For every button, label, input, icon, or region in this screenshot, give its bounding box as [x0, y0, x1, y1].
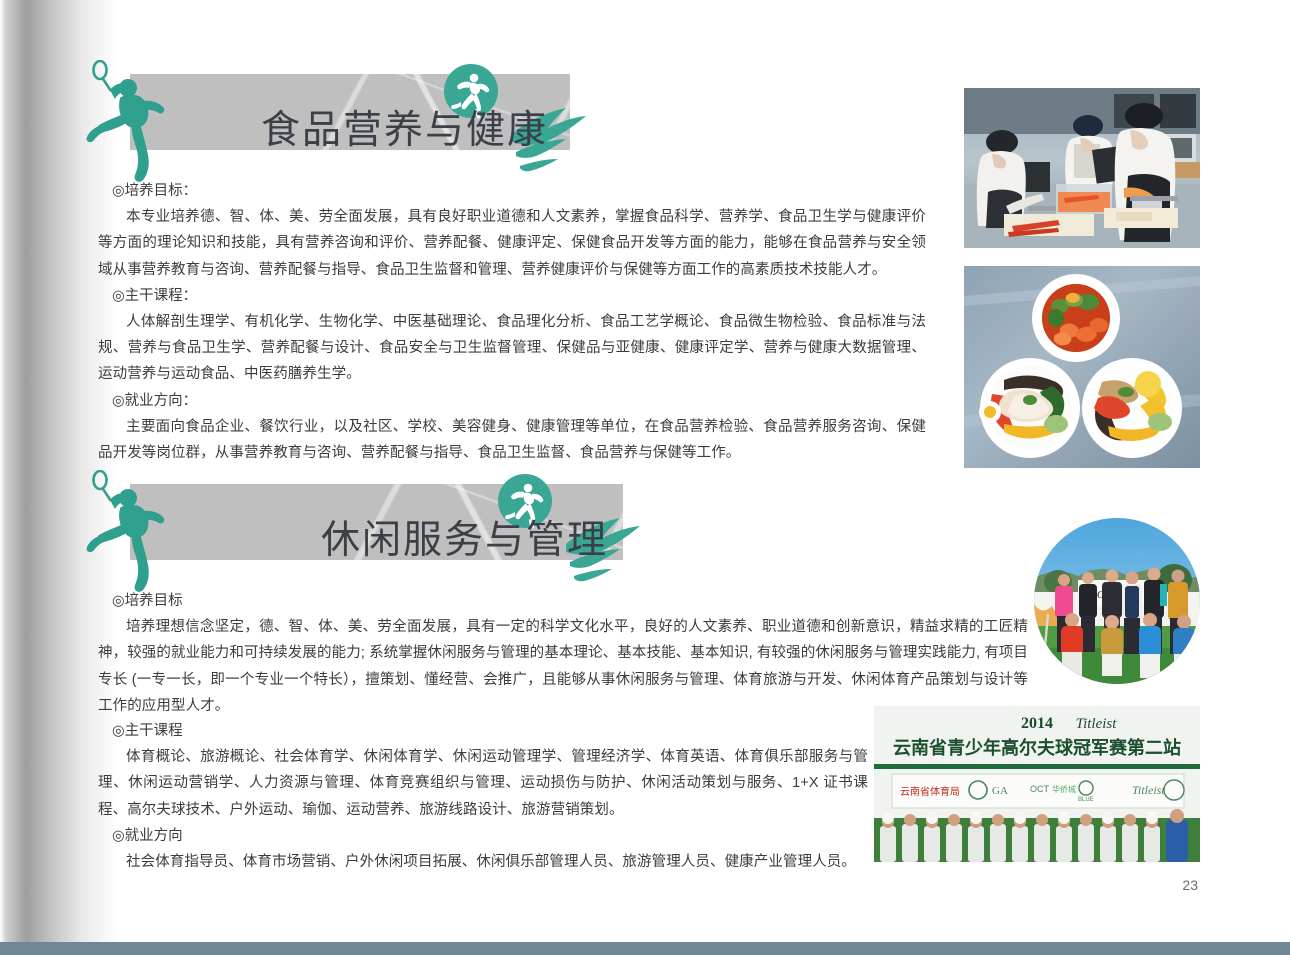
nutrition-meals-photo — [964, 266, 1200, 468]
badminton-player-silhouette-icon — [84, 470, 174, 595]
svg-text:BLUE: BLUE — [1078, 797, 1094, 803]
banner-title-text: 云南省青少年高尔夫球冠军赛第二站 — [893, 737, 1181, 758]
block-heading-employment: ◎就业方向： — [112, 388, 926, 414]
block-text-courses: 体育概论、旅游概论、社会体育学、休闲体育学、休闲运动管理学、管理经济学、体育英语… — [98, 744, 868, 823]
section-body-leisure-management: ◎培养目标 培养理想信念坚定，德、智、体、美、劳全面发展，具有一定的科学文化水平… — [98, 588, 1028, 719]
banner-sponsor-text: 云南省体育局 — [900, 785, 960, 798]
block-heading-employment: ◎就业方向 — [112, 823, 868, 849]
section-body-food-nutrition: ◎培养目标： 本专业培养德、智、体、美、劳全面发展，具有良好职业道德和人文素养，… — [98, 178, 926, 466]
block-heading-courses: ◎主干课程 — [112, 718, 868, 744]
block-text-objective: 本专业培养德、智、体、美、劳全面发展，具有良好职业道德和人文素养，掌握食品科学、… — [98, 204, 926, 283]
culinary-lab-photo — [964, 88, 1200, 248]
bottom-strip — [0, 942, 1290, 955]
svg-text:Titleist: Titleist — [1132, 783, 1165, 797]
brochure-page: 食品营养与健康 ◎培养目标： 本专业培养德、智、体、美、劳全面发展，具有良好职业… — [0, 0, 1290, 955]
block-text-employment: 主要面向食品企业、餐饮行业，以及社区、学校、美容健身、健康管理等单位，在食品营养… — [98, 414, 926, 467]
golf-team-circle-photo: Golfuture ayf — [1034, 518, 1200, 684]
section-body-leisure-courses: ◎主干课程 体育概论、旅游概论、社会体育学、休闲体育学、休闲运动管理学、管理经济… — [98, 718, 868, 875]
banner-year-text: 2014 — [1021, 715, 1053, 732]
svg-text:GA: GA — [992, 785, 1008, 797]
golf-championship-photo: 2014 Titleist 云南省青少年高尔夫球冠军赛第二站 云南省体育局 GA… — [874, 706, 1200, 862]
block-text-objective: 培养理想信念坚定，德、智、体、美、劳全面发展，具有一定的科学文化水平，良好的人文… — [98, 614, 1028, 719]
block-heading-courses: ◎主干课程： — [112, 283, 926, 309]
svg-text:OCT: OCT — [1030, 784, 1050, 794]
block-heading-objective: ◎培养目标： — [112, 178, 926, 204]
page-number: 23 — [1182, 877, 1198, 893]
section-header-food-nutrition: 食品营养与健康 — [60, 62, 600, 158]
block-text-courses: 人体解剖生理学、有机化学、生物化学、中医基础理论、食品理化分析、食品工艺学概论、… — [98, 309, 926, 388]
banner-brand-text: Titleist — [1076, 716, 1118, 732]
badminton-player-silhouette-icon — [84, 60, 174, 185]
section-header-leisure-management: 休闲服务与管理 — [60, 472, 660, 568]
section-title: 休闲服务与管理 — [321, 516, 608, 566]
section-title: 食品营养与健康 — [261, 106, 548, 156]
svg-text:华侨城: 华侨城 — [1052, 784, 1076, 794]
block-heading-objective: ◎培养目标 — [112, 588, 1028, 614]
block-text-employment: 社会体育指导员、体育市场营销、户外休闲项目拓展、休闲俱乐部管理人员、旅游管理人员… — [98, 849, 868, 875]
